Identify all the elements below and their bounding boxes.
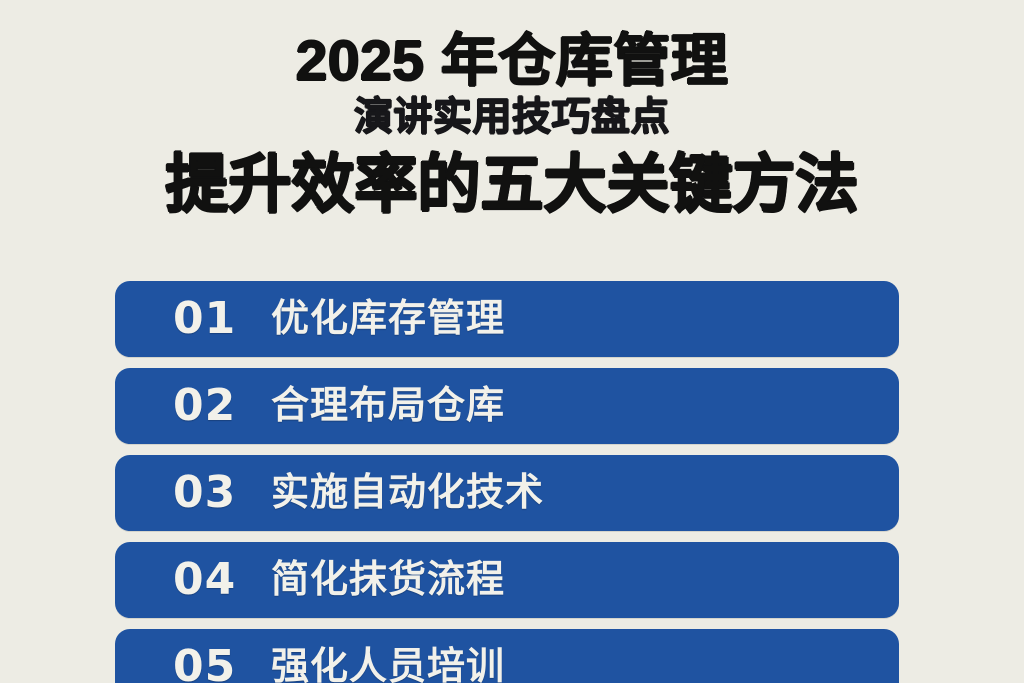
heading-block: 2025 年仓库管理 演讲实用技巧盘点 提升效率的五大关键方法 bbox=[0, 0, 1024, 222]
page-headline: 提升效率的五大关键方法 bbox=[0, 148, 1024, 222]
list-item-label: 优化库存管理 bbox=[271, 298, 505, 340]
list-item-number: 03 bbox=[173, 471, 273, 515]
page-title: 2025 年仓库管理 bbox=[0, 30, 1024, 92]
list-item[interactable]: 04 简化抹货流程 bbox=[115, 542, 899, 618]
list-item-number: 05 bbox=[173, 645, 273, 683]
list-item[interactable]: 01 优化库存管理 bbox=[115, 281, 899, 357]
key-methods-list: 01 优化库存管理 02 合理布局仓库 03 实施自动化技术 04 简化抹货流程… bbox=[115, 281, 899, 683]
list-item-number: 02 bbox=[173, 384, 273, 428]
list-item[interactable]: 02 合理布局仓库 bbox=[115, 368, 899, 444]
list-item-label: 实施自动化技术 bbox=[271, 472, 544, 514]
list-item-number: 04 bbox=[173, 558, 273, 602]
poster-canvas: 2025 年仓库管理 演讲实用技巧盘点 提升效率的五大关键方法 01 优化库存管… bbox=[0, 0, 1024, 683]
page-subtitle: 演讲实用技巧盘点 bbox=[0, 94, 1024, 142]
list-item[interactable]: 05 强化人员培训 bbox=[115, 629, 899, 683]
list-item-label: 简化抹货流程 bbox=[271, 559, 505, 601]
list-item-label: 强化人员培训 bbox=[271, 646, 505, 683]
list-item[interactable]: 03 实施自动化技术 bbox=[115, 455, 899, 531]
list-item-label: 合理布局仓库 bbox=[271, 385, 505, 427]
list-item-number: 01 bbox=[173, 297, 273, 341]
